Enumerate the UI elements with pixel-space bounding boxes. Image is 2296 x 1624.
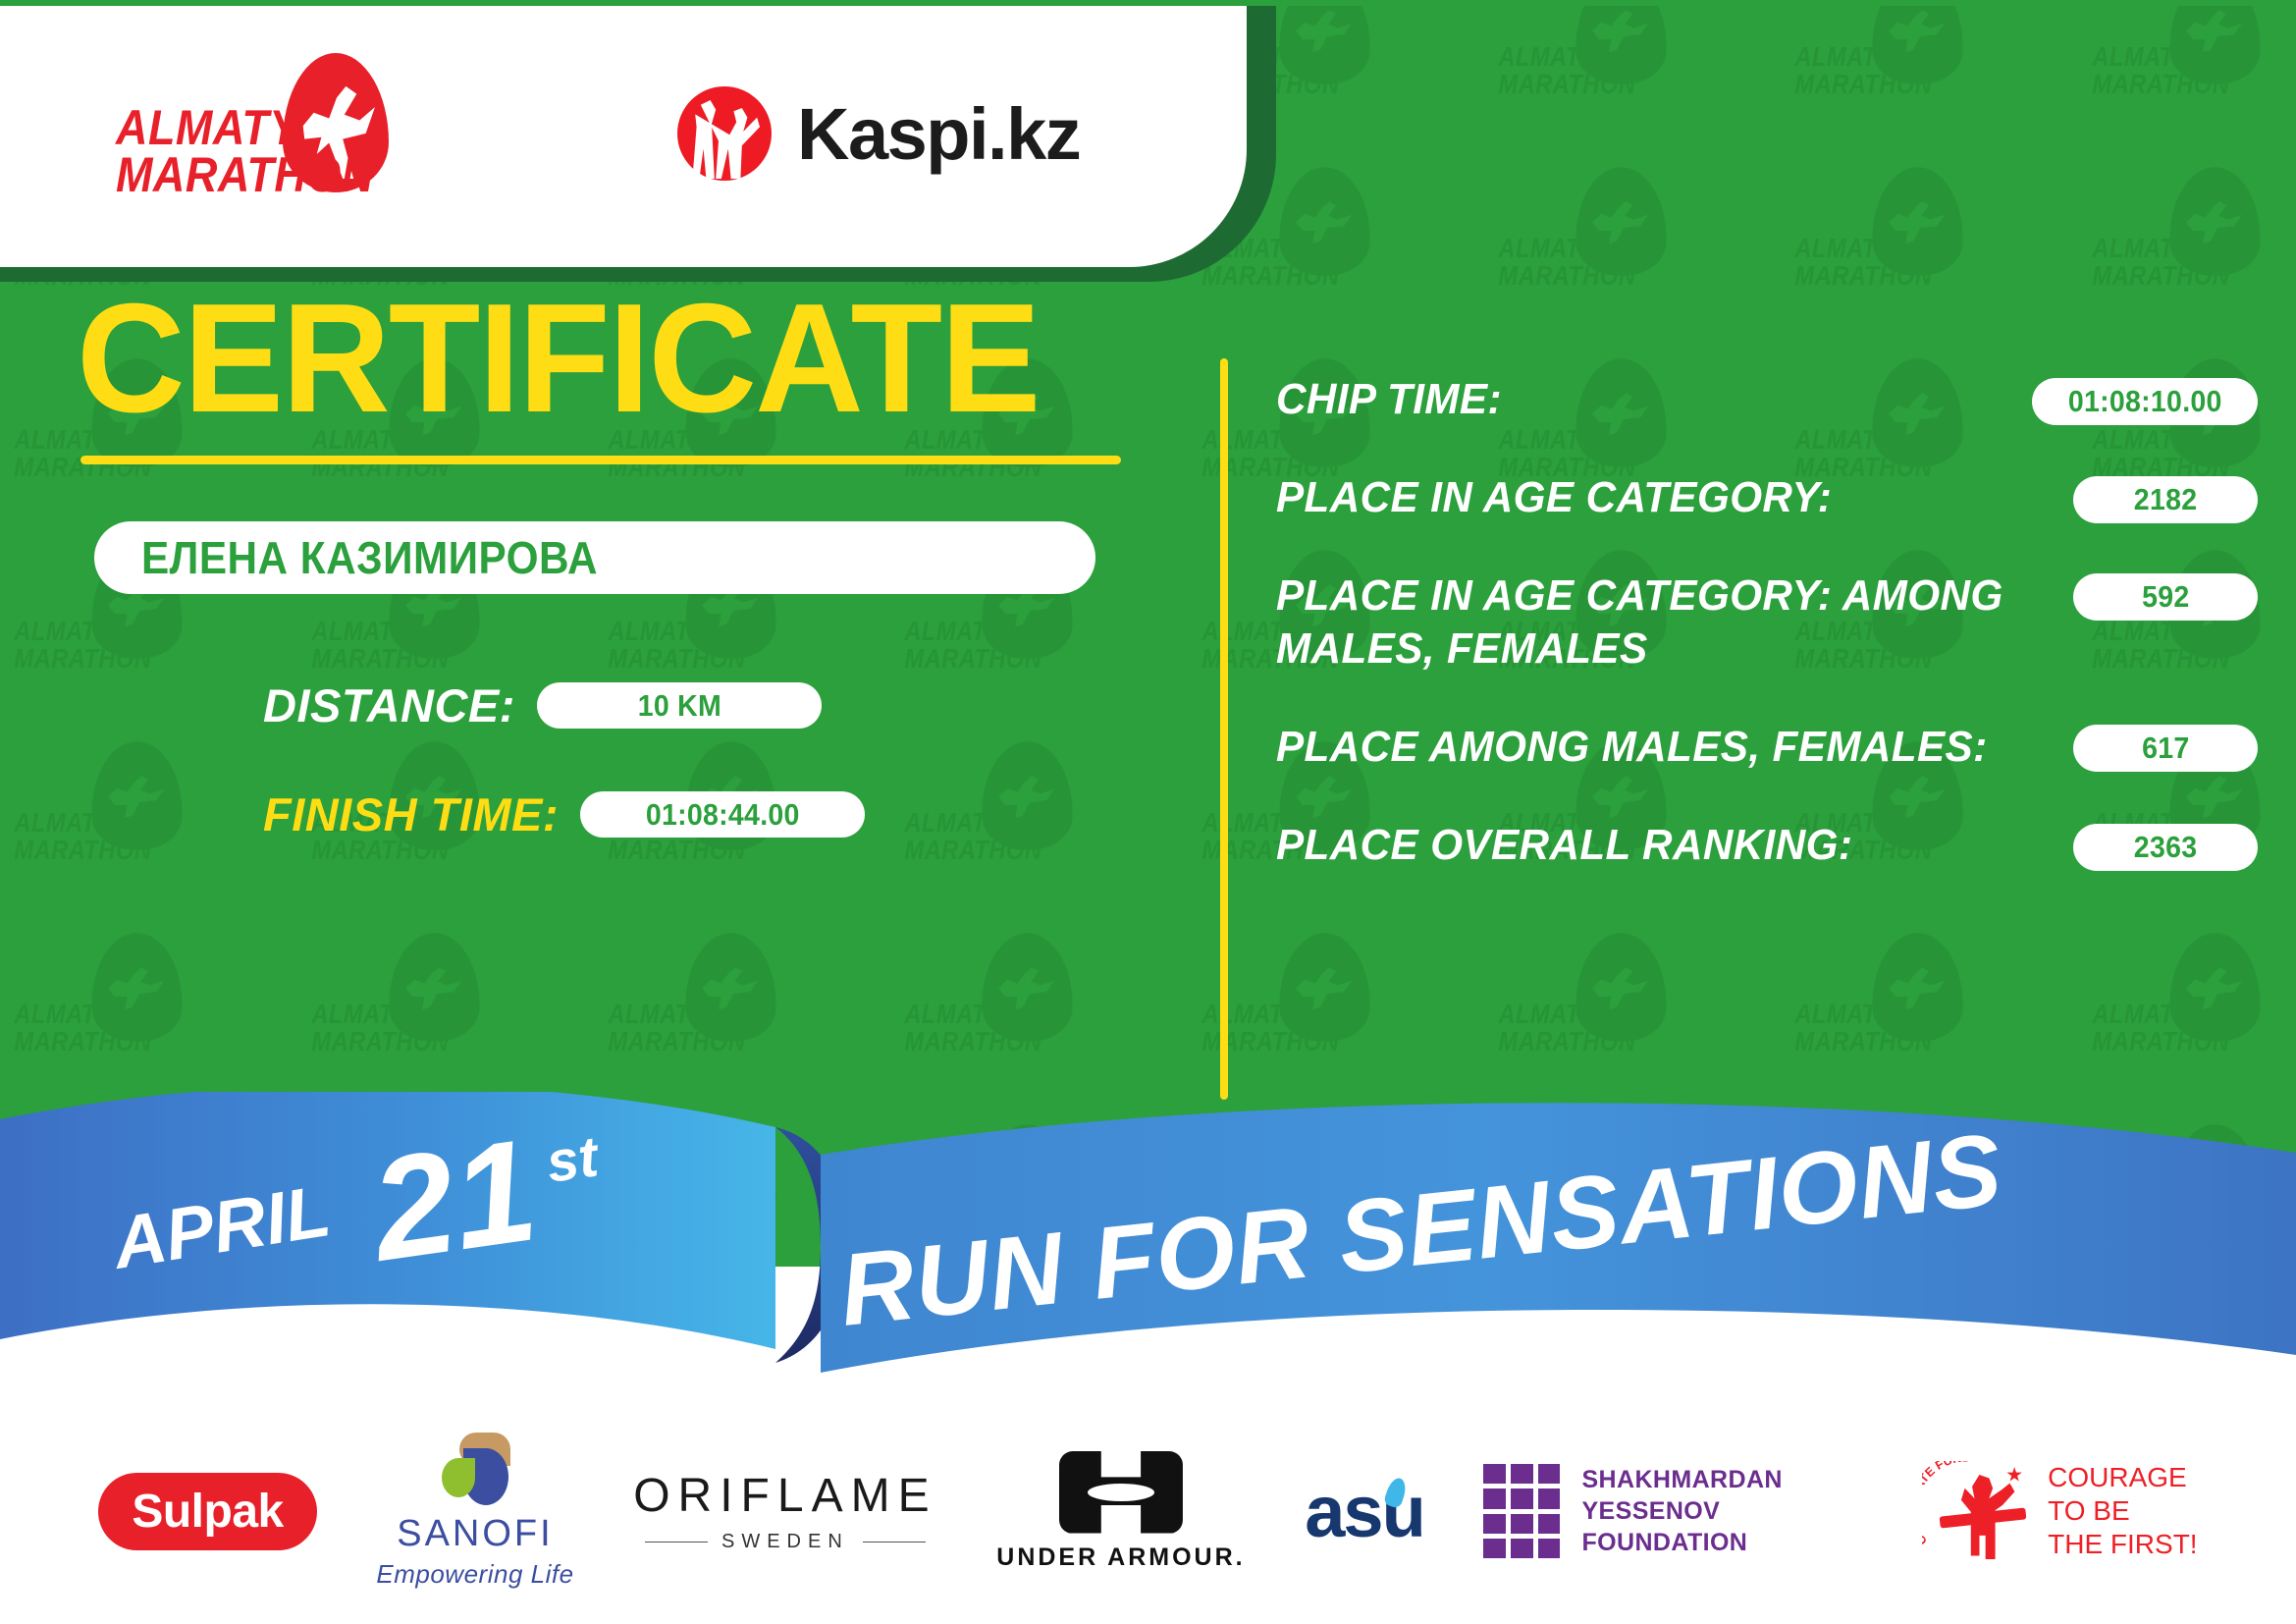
result-row: PLACE AMONG MALES, FEMALES: 617 — [1276, 721, 2258, 774]
watermark-line-1: ALMATY — [2092, 42, 2190, 73]
kaspi-wordmark: Kaspi.kz — [797, 92, 1080, 176]
sanofi-tagline: Empowering Life — [376, 1559, 573, 1590]
place-among-gender-label: PLACE AMONG MALES, FEMALES: — [1276, 721, 2042, 774]
sponsor-logo-under-armour: UNDER ARMOUR. — [996, 1451, 1245, 1572]
watermark-line-2: MARATHON — [1498, 1026, 1635, 1056]
watermark-tile: ALMATYMARATHON — [1795, 933, 1985, 1096]
participant-name-value: ЕЛЕНА КАЗИМИРОВА — [141, 531, 598, 584]
result-row: CHIP TIME: 01:08:10.00 — [1276, 373, 2258, 426]
vertical-divider — [1220, 358, 1228, 1100]
left-panel: CERTIFICATE ЕЛЕНА КАЗИМИРОВА DISTANCE: 1… — [0, 285, 1207, 841]
watermark-tile: ALMATYMARATHON — [905, 933, 1095, 1096]
asu-wordmark: asu — [1305, 1470, 1424, 1553]
oriflame-country: SWEDEN — [721, 1531, 849, 1553]
event-ribbon: APRIL 21 st RUN FOR SENSATIONS — [0, 1092, 2296, 1416]
watermark-line-2: MARATHON — [15, 1026, 152, 1056]
chip-time-label: CHIP TIME: — [1276, 373, 2002, 426]
finish-time-label: FINISH TIME: — [263, 787, 559, 841]
watermark-line-2: MARATHON — [1795, 1026, 1933, 1056]
watermark-tile: ALMATYMARATHON — [1201, 933, 1391, 1096]
watermark-line-1: ALMATY — [1201, 1000, 1300, 1030]
watermark-tile: ALMATYMARATHON — [2092, 167, 2281, 330]
watermark-line-2: MARATHON — [2092, 69, 2229, 99]
watermark-line-1: ALMATY — [15, 1000, 113, 1030]
watermark-line-1: ALMATY — [311, 1000, 409, 1030]
watermark-tile: ALMATYMARATHON — [608, 933, 797, 1096]
page-title: CERTIFICATE — [77, 285, 1173, 432]
sponsor-logo-sulpak: Sulpak — [98, 1473, 316, 1550]
oriflame-rule-right — [863, 1542, 926, 1543]
oriflame-subline: SWEDEN — [645, 1531, 926, 1553]
kaspi-people-icon — [677, 86, 772, 181]
logo-line-1: ALMATY — [116, 104, 374, 151]
distance-label: DISTANCE: — [263, 678, 515, 732]
courage-line-3: THE FIRST! — [2048, 1528, 2197, 1561]
watermark-tile: ALMATYMARATHON — [1795, 0, 1985, 137]
watermark-line-1: ALMATY — [1498, 42, 1596, 73]
yessenov-icon — [1483, 1464, 1560, 1558]
place-overall-label: PLACE OVERALL RANKING: — [1276, 819, 2042, 872]
watermark-line-2: MARATHON — [1498, 69, 1635, 99]
place-among-gender-value-pill: 617 — [2073, 725, 2258, 772]
place-overall-value-pill: 2363 — [2073, 824, 2258, 871]
watermark-line-1: ALMATY — [2092, 234, 2190, 264]
watermark-line-2: MARATHON — [1795, 69, 1933, 99]
finish-time-value: 01:08:44.00 — [646, 797, 800, 833]
yessenov-wordmark: SHAKHMARDAN YESSENOV FOUNDATION — [1581, 1464, 1866, 1558]
place-age-category-gender-label: PLACE IN AGE CATEGORY: AMONG MALES, FEMA… — [1276, 569, 2042, 676]
sponsor-logo-courage-fund: CORPORATE FUND COURAGE TO BE THE FIRST! — [1926, 1457, 2197, 1565]
almaty-marathon-logo: ALMATY MARATHON — [116, 61, 440, 208]
watermark-tile: ALMATYMARATHON — [2092, 933, 2281, 1096]
svg-text:CORPORATE FUND: CORPORATE FUND — [1922, 1461, 1971, 1547]
watermark-line-1: ALMATY — [905, 1000, 1003, 1030]
courage-line-2: TO BE — [2048, 1494, 2197, 1528]
watermark-line-1: ALMATY — [1795, 42, 1894, 73]
chip-time-value: 01:08:10.00 — [2068, 384, 2222, 419]
chip-time-value-pill: 01:08:10.00 — [2032, 378, 2258, 425]
courage-line-1: COURAGE — [2048, 1461, 2197, 1494]
place-among-gender-value: 617 — [2142, 731, 2189, 766]
watermark-line-2: MARATHON — [311, 1026, 449, 1056]
courage-fund-text: COURAGE TO BE THE FIRST! — [2048, 1461, 2197, 1561]
place-overall-value: 2363 — [2134, 830, 2198, 865]
sponsor-bar: Sulpak SANOFI Empowering Life ORIFLAME S… — [0, 1398, 2296, 1624]
watermark-line-2: MARATHON — [1498, 260, 1635, 291]
place-age-category-gender-value: 592 — [2142, 579, 2189, 615]
result-row: PLACE IN AGE CATEGORY: AMONG MALES, FEMA… — [1276, 569, 2258, 676]
place-age-category-gender-value-pill: 592 — [2073, 573, 2258, 621]
under-armour-icon — [1059, 1451, 1183, 1534]
sanofi-wordmark: SANOFI — [397, 1513, 553, 1555]
title-underline — [80, 456, 1121, 464]
watermark-tile: ALMATYMARATHON — [2092, 0, 2281, 137]
kaspi-logo: Kaspi.kz — [677, 86, 1080, 181]
distance-value: 10 KM — [637, 688, 721, 724]
oriflame-wordmark: ORIFLAME — [633, 1469, 936, 1523]
watermark-line-2: MARATHON — [905, 1026, 1042, 1056]
watermark-line-1: ALMATY — [1498, 234, 1596, 264]
place-age-category-value-pill: 2182 — [2073, 476, 2258, 523]
result-row: PLACE OVERALL RANKING: 2363 — [1276, 819, 2258, 872]
watermark-line-2: MARATHON — [2092, 1026, 2229, 1056]
sponsor-logo-yessenov-foundation: SHAKHMARDAN YESSENOV FOUNDATION — [1483, 1464, 1866, 1558]
header-content: ALMATY MARATHON Kaspi.kz — [0, 0, 1247, 267]
under-armour-wordmark: UNDER ARMOUR. — [996, 1543, 1245, 1572]
watermark-tile: ALMATYMARATHON — [1498, 167, 1687, 330]
logo-line-2: MARATHON — [116, 151, 374, 198]
place-age-category-label: PLACE IN AGE CATEGORY: — [1276, 471, 2042, 524]
oriflame-rule-left — [645, 1542, 708, 1543]
watermark-line-1: ALMATY — [1498, 1000, 1596, 1030]
almaty-marathon-wordmark: ALMATY MARATHON — [116, 104, 374, 198]
watermark-tile: ALMATYMARATHON — [1498, 933, 1687, 1096]
watermark-line-1: ALMATY — [1795, 234, 1894, 264]
watermark-line-1: ALMATY — [1795, 1000, 1894, 1030]
courage-fund-icon: CORPORATE FUND — [1926, 1457, 2032, 1565]
watermark-line-1: ALMATY — [608, 1000, 706, 1030]
sponsor-logo-sanofi: SANOFI Empowering Life — [376, 1433, 573, 1590]
watermark-line-2: MARATHON — [1795, 260, 1933, 291]
place-age-category-value: 2182 — [2134, 482, 2198, 517]
watermark-tile: ALMATYMARATHON — [15, 933, 204, 1096]
watermark-line-2: MARATHON — [608, 1026, 745, 1056]
finish-time-row: FINISH TIME: 01:08:44.00 — [263, 787, 1207, 841]
results-panel: CHIP TIME: 01:08:10.00 PLACE IN AGE CATE… — [1276, 373, 2258, 917]
distance-value-pill: 10 KM — [537, 682, 822, 729]
distance-row: DISTANCE: 10 KM — [263, 678, 1207, 732]
certificate-canvas: ALMATYMARATHONALMATYMARATHONALMATYMARATH… — [0, 0, 2296, 1624]
watermark-tile: ALMATYMARATHON — [1498, 0, 1687, 137]
sponsor-logo-oriflame: ORIFLAME SWEDEN — [633, 1469, 936, 1553]
result-row: PLACE IN AGE CATEGORY: 2182 — [1276, 471, 2258, 524]
watermark-line-2: MARATHON — [2092, 260, 2229, 291]
watermark-line-1: ALMATY — [2092, 1000, 2190, 1030]
finish-time-value-pill: 01:08:44.00 — [580, 791, 865, 838]
watermark-tile: ALMATYMARATHON — [1795, 167, 1985, 330]
participant-name-field: ЕЛЕНА КАЗИМИРОВА — [94, 521, 1095, 594]
ribbon-day: 21 — [360, 1109, 546, 1292]
sponsor-logo-asu: asu — [1305, 1470, 1424, 1553]
watermark-tile: ALMATYMARATHON — [311, 933, 501, 1096]
sanofi-icon — [434, 1433, 516, 1507]
